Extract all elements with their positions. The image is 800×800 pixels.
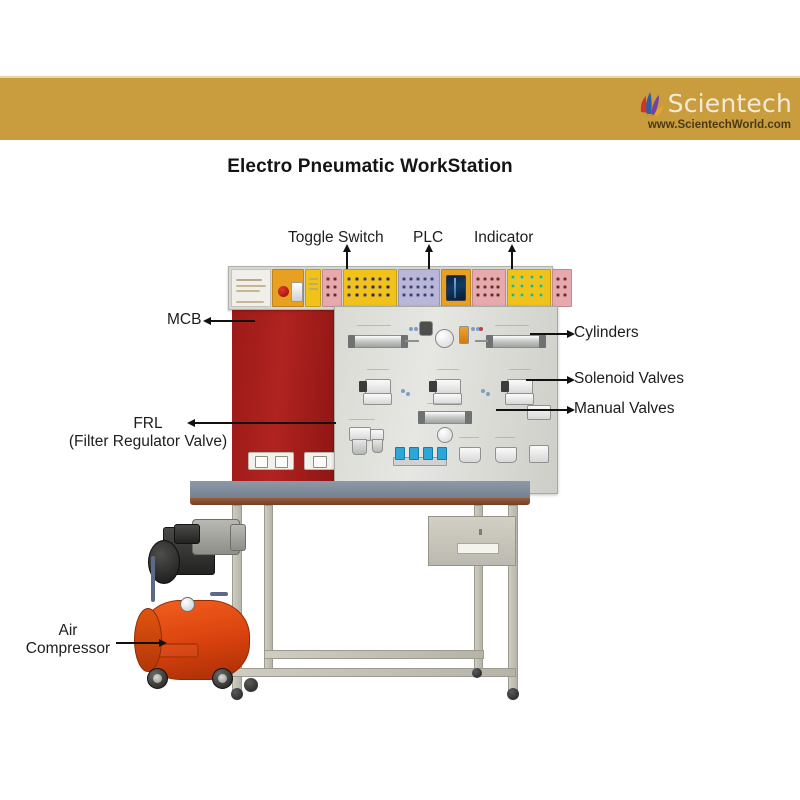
callout-air-compressor-line1: Air (59, 622, 78, 639)
table-caster-front-left (231, 688, 243, 700)
callout-toggle-switch: Toggle Switch (288, 229, 384, 247)
callout-indicator: Indicator (474, 229, 533, 247)
manifold-valve-3[interactable] (423, 447, 433, 460)
callout-frl: FRL (Filter Regulator Valve) (33, 415, 263, 451)
frl-filter-regulator-unit[interactable] (349, 427, 383, 461)
solenoid-valve-1-base (363, 393, 392, 405)
table-top-surface (190, 481, 530, 499)
pressure-gauge-top (435, 329, 454, 348)
plc-module[interactable] (441, 269, 471, 307)
arrow-cylinders (530, 333, 568, 335)
panel-name-plate (231, 269, 271, 307)
mcb-module[interactable] (272, 269, 304, 307)
compressor-outlet-pipe (210, 592, 228, 596)
solenoid-valve-3-base (505, 393, 534, 405)
electrical-control-strip[interactable] (228, 266, 553, 310)
terminal-block-pink-1[interactable] (322, 269, 342, 307)
push-button-valve-top[interactable] (419, 321, 433, 336)
arrow-manual-valves (496, 409, 568, 411)
slide-canvas: Scientech www.ScientechWorld.com Electro… (0, 0, 800, 800)
callout-frl-line1: FRL (133, 415, 162, 432)
pneumatic-component-board[interactable] (334, 306, 558, 494)
drawer-label-plate (457, 543, 499, 554)
table-cross-rail-lower (264, 650, 484, 659)
motor-end-bell (230, 524, 246, 551)
terminal-block-pink-2[interactable] (472, 269, 506, 307)
compressor-pressure-gauge (180, 597, 195, 612)
callout-frl-line2: (Filter Regulator Valve) (33, 433, 263, 451)
red-backing-panel (232, 310, 336, 488)
table-caster-front-right (507, 688, 519, 700)
indicator-lamp-module[interactable] (507, 269, 551, 307)
compressor-wheel-left (147, 668, 168, 689)
pump-cylinder-head (174, 524, 200, 544)
manual-valve-3[interactable] (529, 445, 549, 463)
toggle-switch-module[interactable] (343, 269, 397, 307)
callout-air-compressor-line2: Compressor (8, 640, 128, 658)
arrow-frl (194, 422, 336, 424)
mcb-switch[interactable] (291, 282, 303, 302)
table-drawer[interactable] (428, 516, 516, 566)
cylinder-top-left[interactable] (349, 335, 407, 348)
manifold-valve-2[interactable] (409, 447, 419, 460)
callout-mcb: MCB (167, 311, 201, 329)
tank-end-cap (134, 608, 162, 672)
manifold-valve-4[interactable] (437, 447, 447, 460)
manifold-valve-1[interactable] (395, 447, 405, 460)
table-caster-back-right (472, 668, 482, 678)
terminal-block-pink-3[interactable] (552, 269, 572, 307)
mcb-emergency-knob[interactable] (278, 286, 289, 297)
cylinder-top-right[interactable] (487, 335, 545, 348)
arrow-indicator (511, 251, 513, 269)
socket-plate-right (304, 452, 336, 470)
compressor-caster-rear (244, 678, 258, 692)
manual-valve-right-upper[interactable] (527, 405, 551, 420)
relief-valve-orange[interactable] (459, 326, 469, 344)
plc-display-screen (446, 275, 466, 301)
arrow-solenoid-valves (526, 379, 568, 381)
compressor-air-hose (151, 556, 155, 602)
workstation-illustration (0, 0, 800, 800)
pressure-gauge-center (437, 427, 453, 443)
callout-manual-valves: Manual Valves (574, 400, 675, 418)
cylinder-center[interactable] (419, 411, 471, 424)
socket-plate-left (248, 452, 294, 470)
terminal-block-blue[interactable] (398, 269, 440, 307)
fuse-module[interactable] (305, 269, 321, 307)
manual-valve-2[interactable] (495, 447, 517, 463)
manual-valve-1[interactable] (459, 447, 481, 463)
compressor-wheel-right (212, 668, 233, 689)
callout-air-compressor: Air Compressor (8, 622, 128, 658)
arrow-mcb (210, 320, 255, 322)
arrow-plc (428, 251, 430, 269)
callout-solenoid-valves: Solenoid Valves (574, 370, 684, 388)
callout-cylinders: Cylinders (574, 324, 639, 342)
arrow-air-compressor (116, 642, 160, 644)
table-wood-edge (190, 498, 530, 505)
arrow-toggle-switch (346, 251, 348, 269)
